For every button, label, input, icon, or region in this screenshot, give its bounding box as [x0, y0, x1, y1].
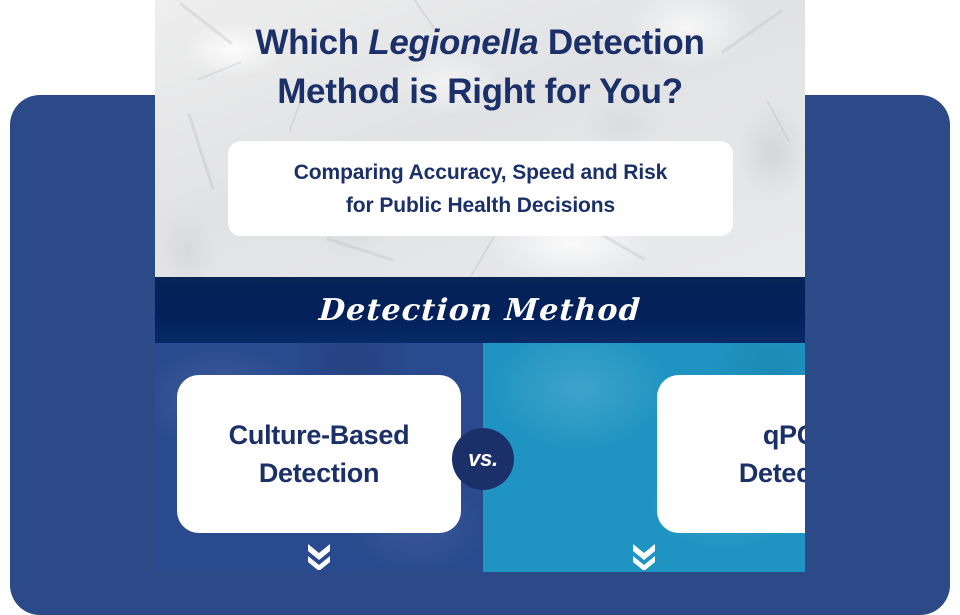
- texture-streak: [326, 237, 394, 261]
- card-culture-based-line1: Culture-Based: [229, 420, 410, 450]
- double-chevron-down-icon: [306, 542, 332, 570]
- subtitle-card: Comparing Accuracy, Speed and Risk for P…: [228, 141, 733, 236]
- card-culture-based-label: Culture-Based Detection: [215, 416, 424, 492]
- subtitle-line1: Comparing Accuracy, Speed and Risk: [294, 161, 668, 184]
- page-title-species: Legionella: [368, 23, 538, 62]
- infographic-content-column: Which Legionella Detection Method is Rig…: [155, 0, 805, 572]
- card-qpcr-line2: Detection: [739, 458, 805, 488]
- page-title: Which Legionella Detection Method is Rig…: [155, 18, 805, 116]
- detection-method-banner-label: Detection Method: [318, 293, 642, 328]
- card-culture-based-line2: Detection: [259, 458, 379, 488]
- card-culture-based-detection[interactable]: Culture-Based Detection: [177, 375, 461, 533]
- detection-method-banner: Detection Method: [155, 277, 805, 343]
- vs-badge: vs.: [452, 428, 514, 490]
- page-title-line2: Method is Right for You?: [277, 72, 683, 111]
- card-qpcr-label: qPCR Detection: [725, 416, 805, 492]
- comparison-section: Culture-Based Detection qPCR Detection: [155, 343, 805, 572]
- page-title-line1-post: Detection: [538, 23, 704, 62]
- texture-streak: [467, 236, 495, 277]
- page-title-line1-pre: Which: [255, 23, 368, 62]
- subtitle-text: Comparing Accuracy, Speed and Risk for P…: [294, 156, 668, 222]
- panel-culture-based: Culture-Based Detection: [155, 343, 483, 572]
- vs-badge-label: vs.: [468, 446, 498, 472]
- double-chevron-down-icon: [631, 542, 657, 570]
- card-qpcr-detection[interactable]: qPCR Detection: [657, 375, 805, 533]
- card-qpcr-line1: qPCR: [763, 420, 805, 450]
- header-section: Which Legionella Detection Method is Rig…: [155, 0, 805, 277]
- subtitle-line2: for Public Health Decisions: [346, 194, 615, 217]
- texture-streak: [187, 113, 215, 190]
- panel-qpcr: qPCR Detection: [483, 343, 805, 572]
